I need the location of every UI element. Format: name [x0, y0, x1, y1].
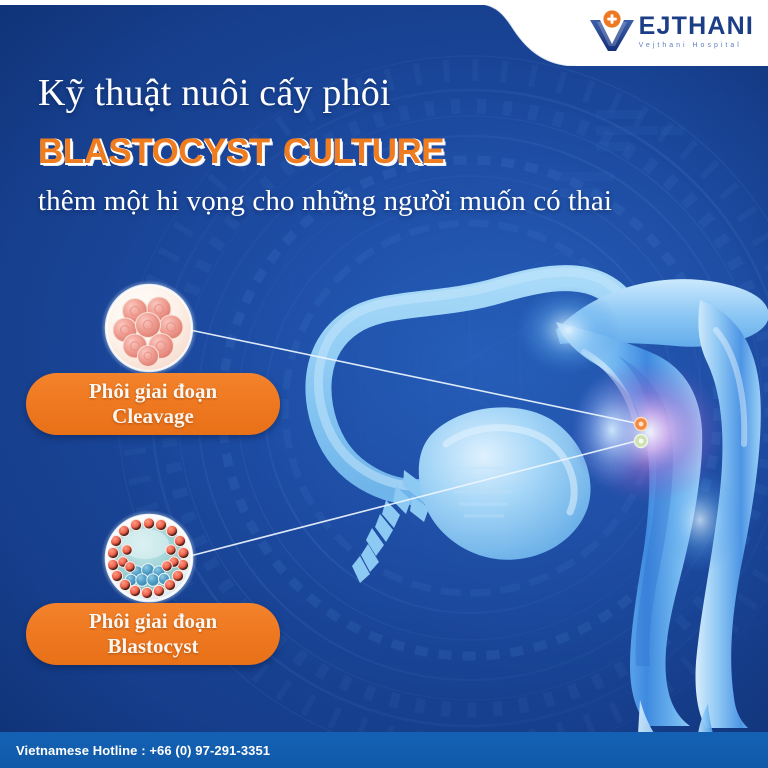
callout-label-blastocyst[interactable]: Phôi giai đoạn Blastocyst [26, 603, 280, 665]
top-white-strip [0, 0, 768, 5]
callout-label-blastocyst-line-2: Blastocyst [108, 634, 199, 659]
blastocyst-stage-embryo-illustration [101, 510, 197, 606]
logo-tagline: Vejthani Hospital [639, 42, 754, 49]
ovary-illustration [419, 407, 591, 559]
callout-label-blastocyst-line-1: Phôi giai đoạn [89, 609, 217, 634]
logo-brand-name: EJTHANI [639, 14, 754, 39]
callout-label-cleavage-line-1: Phôi giai đoạn [89, 379, 217, 404]
headline-line-3: thêm một hi vọng cho những người muốn có… [38, 185, 698, 218]
logo-text-block: EJTHANI Vejthani Hospital [639, 14, 754, 49]
headline-line-2-blastocyst-culture: Blastocyst culture [38, 121, 698, 171]
footer-hotline-text: Vietnamese Hotline : +66 (0) 97-291-3351 [16, 743, 270, 758]
vejthani-logo[interactable]: EJTHANI Vejthani Hospital [586, 10, 754, 52]
logo-v-icon [586, 10, 638, 52]
callout-label-cleavage[interactable]: Phôi giai đoạn Cleavage [26, 373, 280, 435]
cleavage-stage-embryo-illustration [101, 280, 197, 376]
callout-label-cleavage-line-2: Cleavage [112, 404, 194, 429]
headline-line-1: Kỹ thuật nuôi cấy phôi [38, 72, 698, 115]
infographic-poster: EJTHANI Vejthani Hospital Kỹ thuật nuôi … [0, 0, 768, 768]
footer-bar: Vietnamese Hotline : +66 (0) 97-291-3351 [0, 732, 768, 768]
headline-block: Kỹ thuật nuôi cấy phôi Blastocyst cultur… [38, 72, 698, 218]
logo-mark [586, 10, 638, 52]
